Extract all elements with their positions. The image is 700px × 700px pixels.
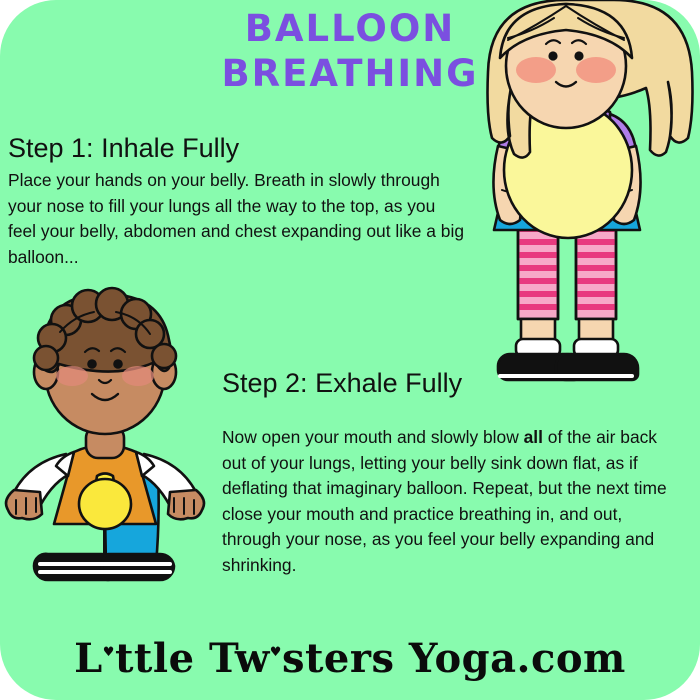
girl-legging-left bbox=[518, 224, 558, 319]
girl-cheek-right bbox=[576, 57, 616, 83]
boy-cheek-right bbox=[122, 366, 154, 386]
girl-eye-right bbox=[574, 51, 583, 60]
title-line-1: BALLOON bbox=[245, 7, 456, 50]
boy-eye-left bbox=[87, 359, 97, 369]
boy-shoe-right bbox=[102, 554, 174, 580]
boy-hair bbox=[34, 288, 176, 372]
boy-cheek-left bbox=[56, 366, 88, 386]
wordmark-part-3: Tw bbox=[209, 635, 270, 682]
step-1-heading: Step 1: Inhale Fully bbox=[8, 133, 239, 164]
girl-illustration bbox=[466, 0, 700, 398]
step-2-body-part-1: Now open your mouth and slowly blow bbox=[222, 427, 524, 447]
step-1-body: Place your hands on your belly. Breath i… bbox=[8, 168, 468, 270]
step-2-emphasis-all: all bbox=[524, 427, 543, 447]
wordmark-part-1: L bbox=[74, 635, 103, 682]
step-2-body-part-2: of the air back out of your lungs, letti… bbox=[222, 427, 667, 575]
boy-illustration bbox=[4, 276, 234, 658]
boy-eye-right bbox=[113, 359, 123, 369]
girl-cheek-left bbox=[516, 57, 556, 83]
wordmark-part-4: sters Yoga.com bbox=[282, 635, 626, 682]
step-2-heading: Step 2: Exhale Fully bbox=[222, 368, 462, 399]
poster-canvas: BALLOON BREATHING bbox=[0, 0, 700, 700]
brand-wordmark: L♥ttle Tw♥sters Yoga.com bbox=[0, 635, 700, 682]
heart-icon: ♥ bbox=[103, 645, 115, 660]
heart-icon-2: ♥ bbox=[270, 645, 282, 660]
girl-eye-left bbox=[548, 51, 557, 60]
step-2-body: Now open your mouth and slowly blow all … bbox=[222, 425, 684, 579]
girl-legging-right bbox=[576, 224, 616, 319]
wordmark-part-2: ttle bbox=[115, 635, 209, 682]
